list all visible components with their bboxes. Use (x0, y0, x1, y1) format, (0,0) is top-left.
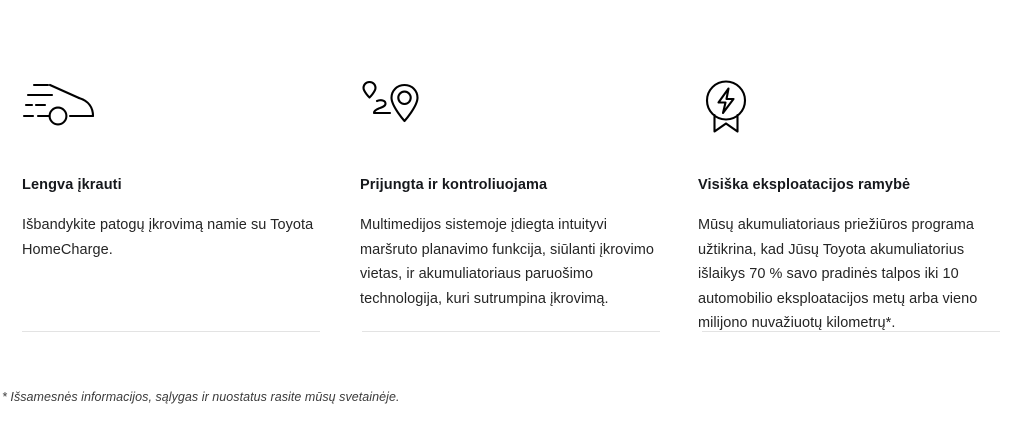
feature-column-2: Prijungta ir kontroliuojama Multimedijos… (338, 0, 676, 336)
feature-title: Lengva įkrauti (22, 175, 320, 195)
column-divider-1 (22, 331, 320, 332)
feature-title: Visiška eksploatacijos ramybė (698, 175, 996, 195)
badge-lightning-icon (698, 78, 996, 136)
feature-title: Prijungta ir kontroliuojama (360, 175, 658, 195)
car-speed-icon (22, 78, 320, 136)
map-pin-route-icon (360, 78, 658, 136)
column-divider-2 (362, 331, 660, 332)
feature-columns: Lengva įkrauti Išbandykite patogų įkrovi… (0, 0, 1014, 336)
feature-body: Išbandykite patogų įkrovimą namie su Toy… (22, 213, 320, 262)
feature-column-3: Visiška eksploatacijos ramybė Mūsų akumu… (676, 0, 1014, 336)
footnote-disclaimer: * Išsamesnės informacijos, sąlygas ir nu… (2, 390, 399, 404)
feature-body: Mūsų akumuliatoriaus priežiūros programa… (698, 213, 996, 336)
column-divider-3 (702, 331, 1000, 332)
feature-column-1: Lengva įkrauti Išbandykite patogų įkrovi… (0, 0, 338, 336)
feature-body: Multimedijos sistemoje įdiegta intuityvi… (360, 213, 658, 311)
